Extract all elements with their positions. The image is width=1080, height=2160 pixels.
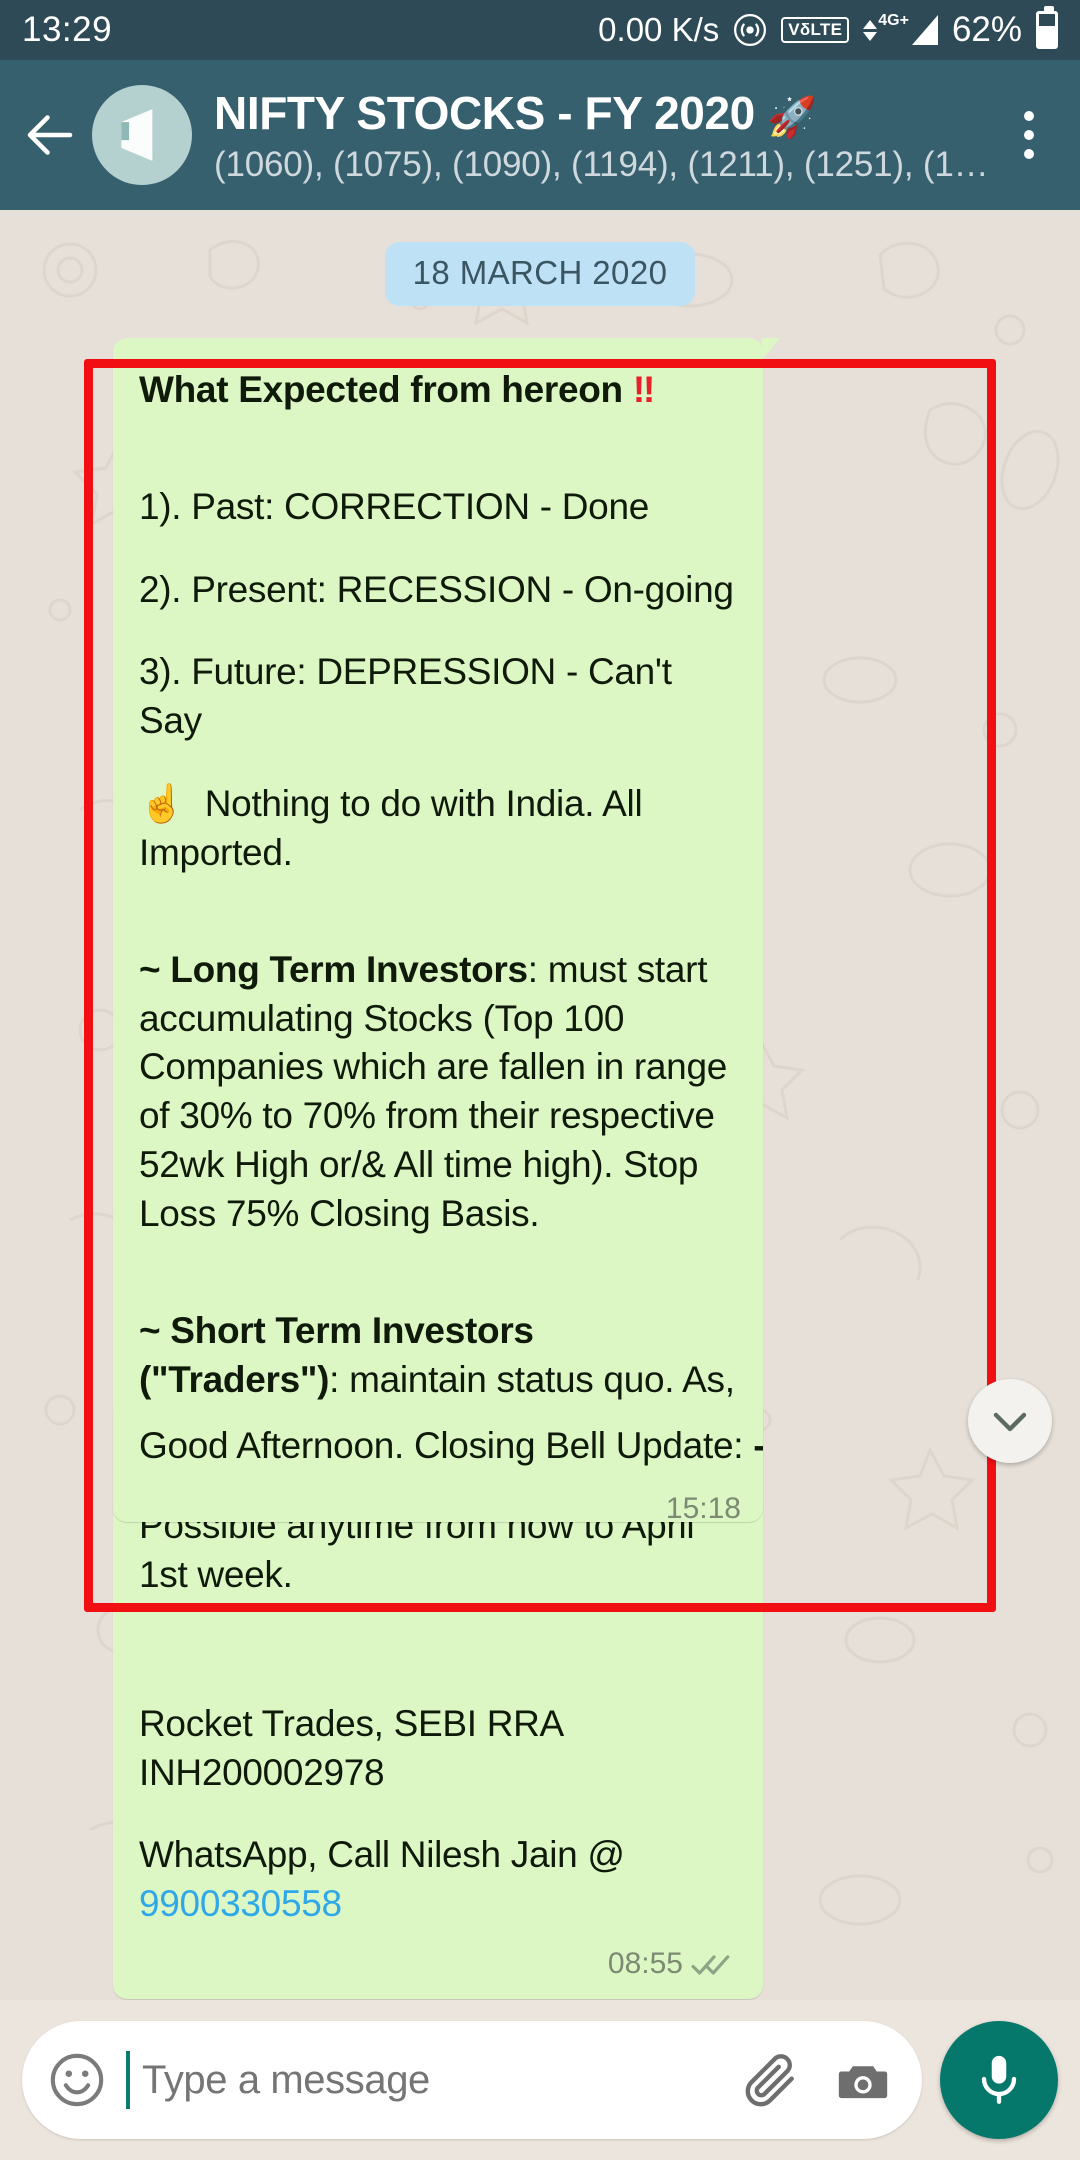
microphone-icon [970,2051,1028,2109]
paperclip-icon[interactable] [740,2049,802,2111]
message-heading: What Expected from hereon ‼ [139,366,737,415]
message-input-bar [0,2000,1080,2160]
message-body: What Expected from hereon ‼ 1). Past: CO… [139,366,737,1929]
chat-message-list[interactable]: 18 MARCH 2020 What Expected from hereon … [0,210,1080,2000]
network-type-label: 4G+ [878,12,909,30]
long-term-paragraph: ~ Long Term Investors: must start accumu… [139,946,737,1239]
double-check-icon [691,1951,733,1977]
status-clock: 13:29 [22,10,112,50]
chat-titles[interactable]: NIFTY STOCKS - FY 2020 🚀 (1060), (1075),… [214,85,1004,185]
back-button[interactable] [14,99,86,171]
cast-icon [733,13,767,47]
message-line-1: 1). Past: CORRECTION - Done [139,483,737,532]
pointing-up-icon: ☝ [139,783,185,824]
data-arrows-icon [863,20,877,41]
whatsapp-chat-screen: 13:29 0.00 K/s VδLTE 4G+ 62% [0,0,1080,2160]
back-arrow-icon [20,105,80,165]
network-speed-text: 0.00 K/s [598,11,719,49]
message-contact: WhatsApp, Call Nilesh Jain @ 9900330558 [139,1831,737,1929]
long-term-body: : must start accumulating Stocks (Top 10… [139,949,727,1234]
signal-icon: 4G+ [863,15,938,45]
date-divider-row: 18 MARCH 2020 [0,242,1080,306]
contact-prefix: WhatsApp, Call Nilesh Jain @ [139,1834,625,1875]
smiley-icon[interactable] [48,2051,106,2109]
signal-bars-icon [912,15,938,45]
text-cursor [126,2051,130,2109]
status-icons: 0.00 K/s VδLTE 4G+ 62% [598,10,1058,50]
scroll-to-bottom-button[interactable] [968,1379,1052,1463]
menu-dot [1024,130,1034,140]
chat-subtitle: (1060), (1075), (1090), (1194), (1211), … [214,145,1004,185]
message-bubble[interactable]: Good Afternoon. Closing Bell Update: - N… [113,1402,763,1522]
message-note: ☝ Nothing to do with India. All Imported… [139,780,737,878]
chat-app-bar: NIFTY STOCKS - FY 2020 🚀 (1060), (1075),… [0,60,1080,210]
volte-icon: VδLTE [781,17,849,43]
battery-percent-label: 62% [952,10,1022,50]
page-title: NIFTY STOCKS - FY 2020 🚀 [214,89,1004,139]
menu-dot [1024,149,1034,159]
avatar[interactable] [92,85,192,185]
overflow-menu-button[interactable] [1004,92,1054,178]
next-message-time: 15:18 [666,1492,741,1522]
next-message-prefix: Good Afternoon. Closing Bell Update: [139,1425,753,1466]
date-divider: 18 MARCH 2020 [385,242,696,306]
next-message-text: Good Afternoon. Closing Bell Update: - N… [139,1422,737,1470]
double-exclamation-icon: ‼ [633,369,653,410]
status-bar: 13:29 0.00 K/s VδLTE 4G+ 62% [0,0,1080,60]
battery-icon [1036,11,1058,49]
message-note-text: Nothing to do with India. All Imported. [139,783,642,873]
rocket-icon: 🚀 [767,96,816,139]
voice-record-button[interactable] [940,2021,1058,2139]
long-term-label: ~ Long Term Investors [139,949,528,990]
message-line-2: 2). Present: RECESSION - On-going [139,566,737,615]
menu-dot [1024,111,1034,121]
composer[interactable] [22,2021,922,2139]
camera-icon[interactable] [834,2051,892,2109]
next-message-bold: - NIL [753,1425,763,1466]
message-bubble[interactable]: What Expected from hereon ‼ 1). Past: CO… [113,338,763,1999]
phone-number-link[interactable]: 9900330558 [139,1883,342,1924]
message-meta: 08:55 [139,1947,737,1981]
message-time: 08:55 [608,1947,683,1981]
message-heading-text: What Expected from hereon [139,369,623,410]
chat-title-text: NIFTY STOCKS - FY 2020 [214,89,755,139]
message-signature: Rocket Trades, SEBI RRA INH200002978 [139,1700,737,1798]
channel-avatar-icon [111,104,173,166]
message-line-3: 3). Future: DEPRESSION - Can't Say [139,648,737,746]
message-input[interactable] [136,2058,734,2103]
chevron-down-icon [986,1397,1034,1445]
